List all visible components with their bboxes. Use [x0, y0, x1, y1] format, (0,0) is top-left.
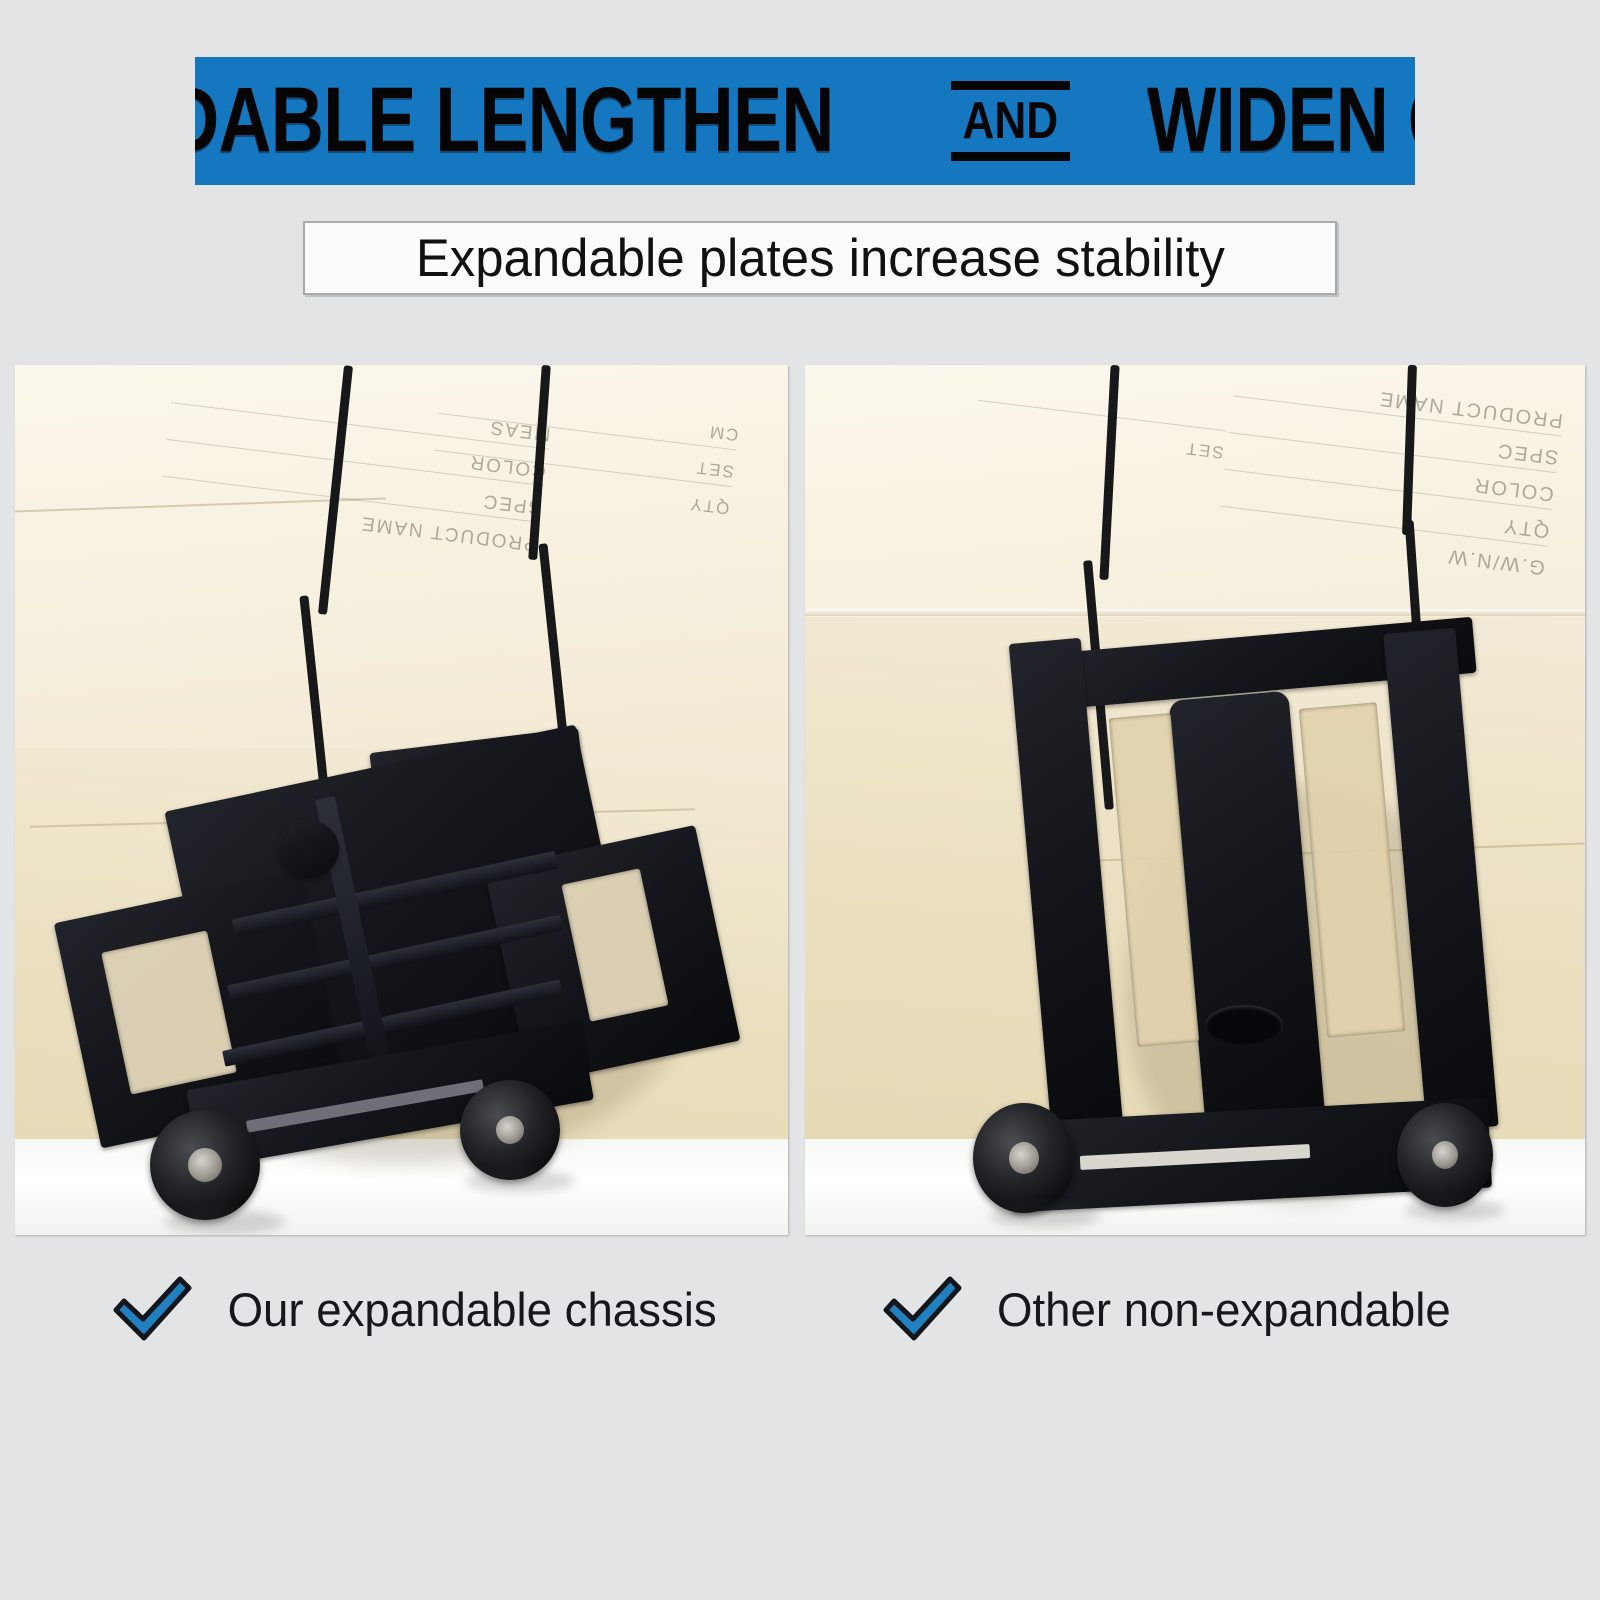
wheel-reflection — [1405, 1200, 1505, 1220]
caption-our-product: Our expandable chassis — [110, 1264, 724, 1354]
check-icon — [880, 1270, 964, 1348]
wheel-reflection — [465, 1170, 575, 1192]
banner-title-row: EXPANDABLE LENGTHEN AND WIDEN CHASSIS — [195, 77, 1415, 164]
wheel-hub — [496, 1116, 524, 1144]
caption-our-product-text: Our expandable chassis — [228, 1282, 717, 1337]
our-product-photo: PRODUCT NAME SPEC COLOR MEAS QTY SET CM — [15, 365, 788, 1235]
and-bar-top — [951, 81, 1070, 90]
wheel-reflection — [165, 1210, 285, 1234]
subtitle-text: Expandable plates increase stability — [416, 228, 1225, 289]
wheel-left — [973, 1103, 1075, 1213]
and-bar-bottom — [951, 152, 1070, 161]
subtitle-box: Expandable plates increase stability — [303, 221, 1337, 295]
wheel-left — [150, 1110, 260, 1220]
check-icon — [110, 1270, 194, 1348]
wheel-right — [460, 1080, 560, 1180]
caption-competitor-text: Other non-expandable — [997, 1282, 1451, 1337]
carton-seam — [805, 609, 1585, 616]
wheel-hub — [1432, 1141, 1458, 1169]
spine-finger-hole — [1205, 1005, 1283, 1045]
banner-title-conjunction: AND — [960, 90, 1061, 152]
competitor-photo: G.W/N.W QTY COLOR SPEC PRODUCT NAME SET — [805, 365, 1585, 1235]
wheel-reflection — [990, 1205, 1100, 1227]
pivot-knob — [277, 820, 339, 878]
header-banner: EXPANDABLE LENGTHEN AND WIDEN CHASSIS — [195, 57, 1415, 185]
wheel-hub — [188, 1148, 222, 1182]
wheel-right — [1397, 1103, 1493, 1207]
banner-and-ligature: AND — [951, 81, 1070, 161]
banner-title-part-1: EXPANDABLE LENGTHEN — [195, 77, 833, 164]
caption-competitor: Other non-expandable — [880, 1264, 1458, 1354]
banner-title-part-2: WIDEN CHASSIS — [1147, 77, 1415, 164]
wheel-hub — [1009, 1142, 1039, 1174]
